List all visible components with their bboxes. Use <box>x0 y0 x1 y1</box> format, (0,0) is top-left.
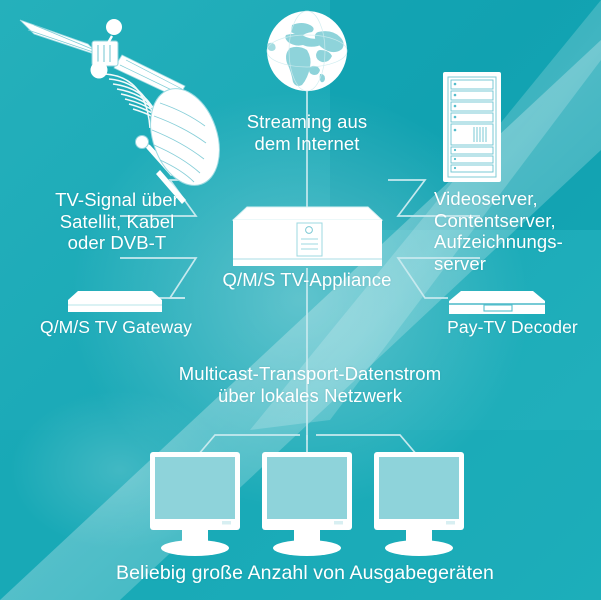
label-streaming: Streaming aus dem Internet <box>231 111 383 154</box>
gateway-box-icon <box>68 291 162 312</box>
label-videoserver: Videoserver, Contentserver, Aufzeichnung… <box>434 188 600 275</box>
label-appliance: Q/M/S TV-Appliance <box>187 269 427 291</box>
globe-icon <box>267 11 347 91</box>
label-decoder: Pay-TV Decoder <box>430 317 595 337</box>
diagram-artwork <box>0 0 601 600</box>
server-rack-icon <box>443 72 501 182</box>
appliance-box-icon <box>233 207 382 266</box>
label-gateway: Q/M/S TV Gateway <box>18 317 214 337</box>
label-multicast: Multicast-Transport-Datenstrom über loka… <box>160 363 460 406</box>
label-tv-signal: TV-Signal über Satellit, Kabel oder DVB-… <box>22 189 212 254</box>
decoder-box-icon <box>449 291 545 314</box>
diagram-canvas: Streaming aus dem Internet TV-Signal übe… <box>0 0 601 600</box>
label-outputs: Beliebig große Anzahl von Ausgabegeräten <box>55 562 555 585</box>
